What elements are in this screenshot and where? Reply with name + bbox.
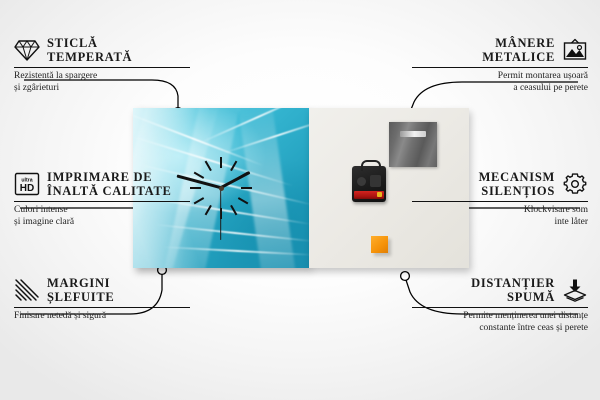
mechanism-set-dial [357,177,366,186]
mechanism-housing-detail [370,175,381,187]
feature-title: STICLĂ TEMPERATĂ [47,36,132,64]
foam-spacer-pad [371,236,388,253]
feature-silent-mechanism: MECANISM SILENȚIOS Klockvisare som inte … [412,170,588,229]
feature-description: Finisare netedă și sigură [14,311,190,323]
connector-node-spacer [401,272,410,281]
feature-title: MÂNERE METALICE [482,36,555,64]
feature-tempered-glass: STICLĂ TEMPERATĂ Rezistentă la spargere … [14,36,190,95]
feature-header: MARGINI ȘLEFUITE [14,276,190,304]
gear-icon [562,171,588,197]
arrow-down-layers-icon [562,277,588,303]
clock-mechanism [352,166,386,202]
feature-divider [412,67,588,68]
mechanism-hanging-loop [361,160,381,171]
feature-divider [412,307,588,308]
feature-header: MECANISM SILENȚIOS [412,170,588,198]
metal-hanger-plate [389,122,437,167]
feature-metal-hangers: MÂNERE METALICE Permit montarea ușoară a… [412,36,588,95]
feature-header: DISTANȚIER SPUMĂ [412,276,588,304]
feature-foam-spacer: DISTANȚIER SPUMĂ Permite menținerea unei… [412,276,588,335]
feature-description: Culori intense și imagine clară [14,205,190,229]
feature-title: MECANISM SILENȚIOS [479,170,555,198]
feature-title: DISTANȚIER SPUMĂ [471,276,555,304]
battery-terminal [377,192,382,197]
svg-text:HD: HD [20,183,34,194]
feature-description: Permit montarea ușoară a ceasului pe per… [412,71,588,95]
infographic-stage: STICLĂ TEMPERATĂ Rezistentă la spargere … [0,0,600,400]
polished-edges-icon [14,277,40,303]
feature-divider [14,67,190,68]
feature-description: Permite menținerea unei distanțe constan… [412,311,588,335]
feature-polished-edges: MARGINI ȘLEFUITE Finisare netedă și sigu… [14,276,190,323]
feature-header: ultra HD IMPRIMARE DE ÎNALTĂ CALITATE [14,170,190,198]
feature-divider [14,307,190,308]
feature-title: MARGINI ȘLEFUITE [47,276,114,304]
feature-description: Rezistentă la spargere și zgârieturi [14,71,190,95]
feature-header: MÂNERE METALICE [412,36,588,64]
feature-header: STICLĂ TEMPERATĂ [14,36,190,64]
battery [354,191,384,199]
clock-center-cap [219,186,224,191]
diamond-icon [14,37,40,63]
feature-title: IMPRIMARE DE ÎNALTĂ CALITATE [47,170,172,198]
feature-high-quality-print: ultra HD IMPRIMARE DE ÎNALTĂ CALITATE Cu… [14,170,190,229]
feature-divider [14,201,190,202]
feature-divider [412,201,588,202]
feature-description: Klockvisare som inte låter [412,205,588,229]
ultra-hd-icon: ultra HD [14,171,40,197]
hanger-slot [400,131,426,137]
picture-frame-hanger-icon [562,37,588,63]
